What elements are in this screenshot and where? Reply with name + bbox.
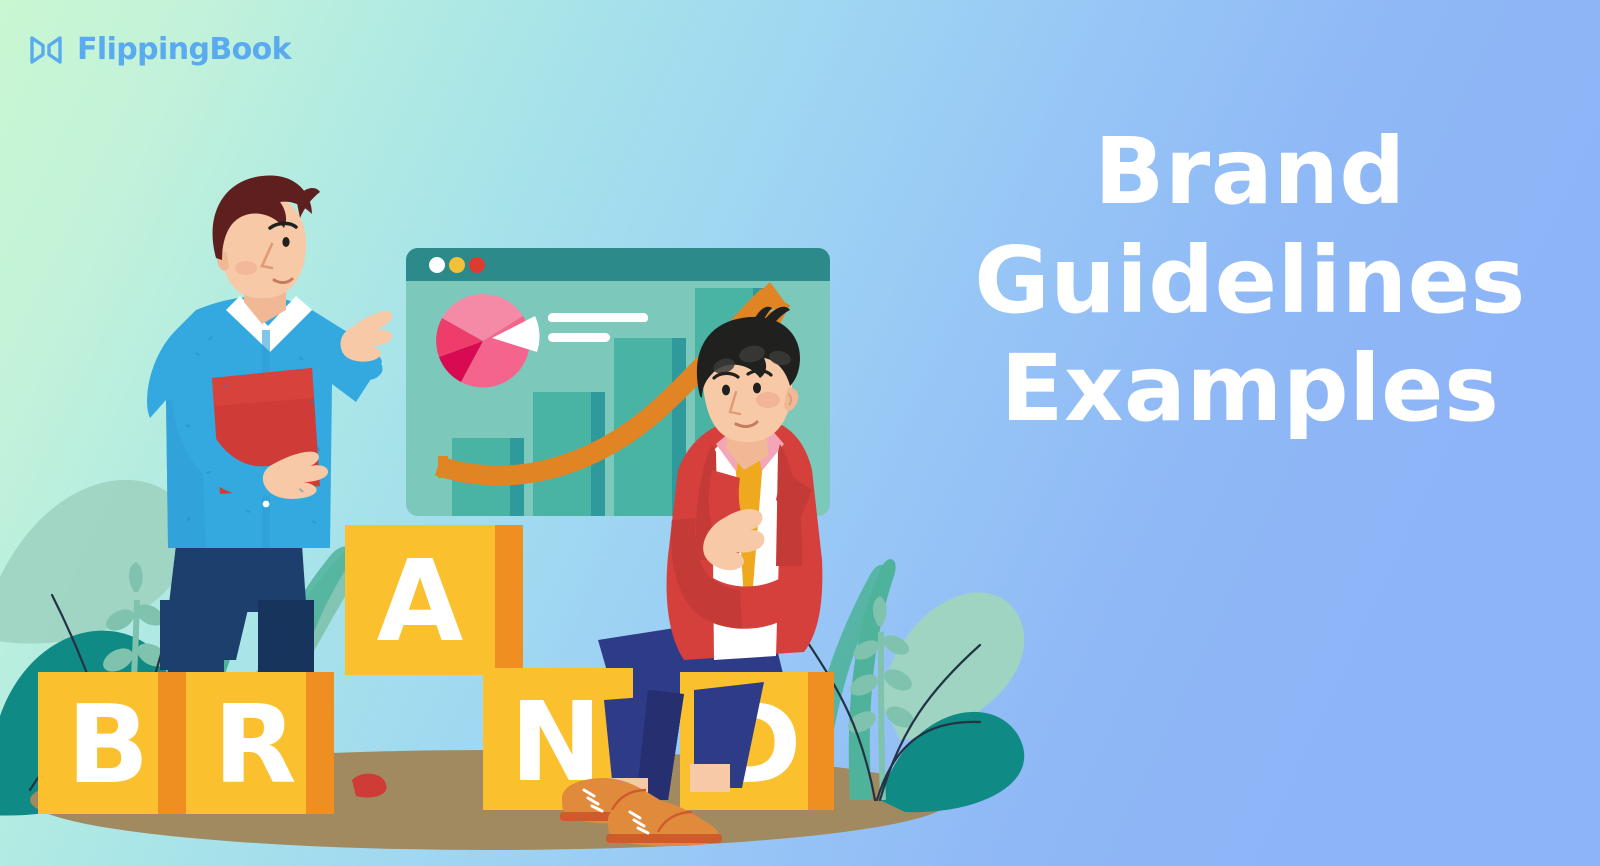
maximize-dot-icon[interactable]	[469, 257, 485, 273]
hero-banner: A	[0, 0, 1600, 866]
page-title: Brand Guidelines Examples	[920, 118, 1580, 444]
logo-wordmark: FlippingBook	[77, 35, 291, 65]
close-dot-icon[interactable]	[429, 257, 445, 273]
block-letter-a: A	[377, 537, 464, 667]
page-title-line-1: Brand	[920, 118, 1580, 227]
text-line-2	[548, 333, 610, 342]
block-letter-b: B	[67, 683, 149, 808]
block-letter-r: R	[213, 683, 296, 808]
brand-logo[interactable]: FlippingBook	[28, 32, 291, 68]
minimize-dot-icon[interactable]	[449, 257, 465, 273]
letter-block-b: B	[38, 672, 186, 814]
page-title-line-2: Guidelines	[920, 227, 1580, 336]
page-title-line-3: Examples	[920, 335, 1580, 444]
flippingbook-butterfly-mark-icon	[28, 32, 64, 68]
letter-block-a: A	[345, 525, 523, 675]
letter-block-r: R	[186, 672, 334, 814]
